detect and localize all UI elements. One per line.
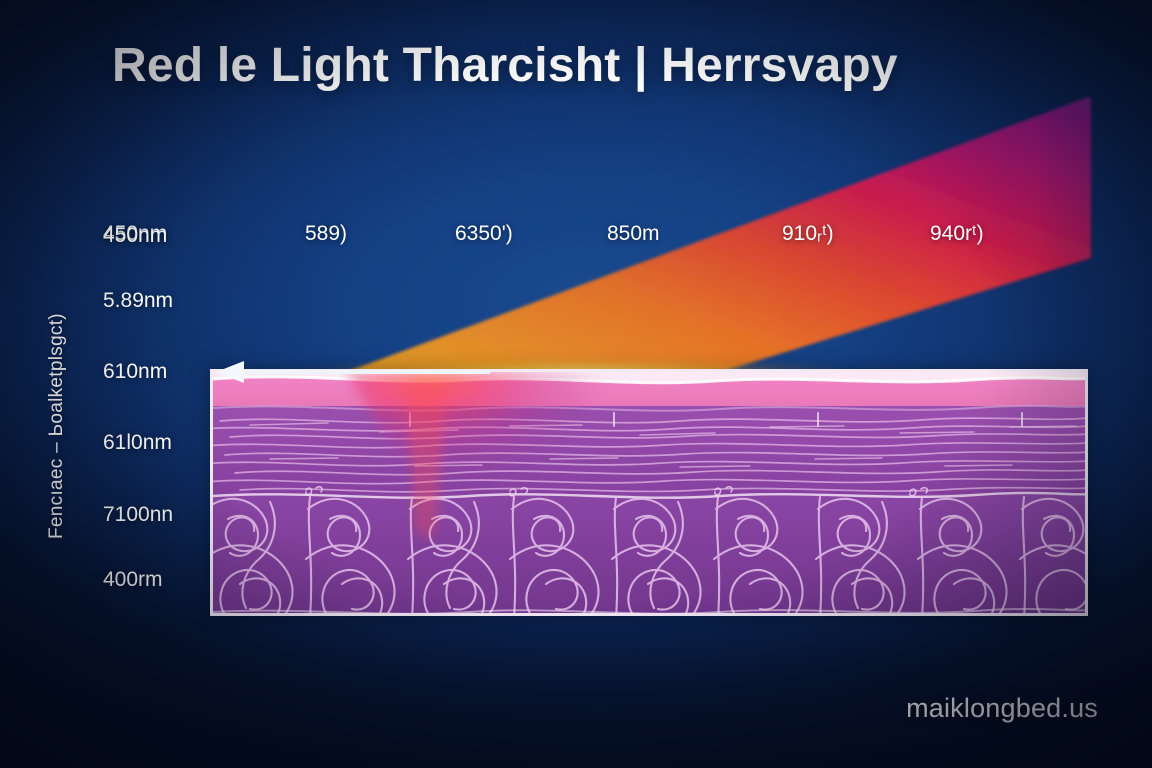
wavelength-label-4: 850m: [607, 222, 660, 246]
wavelength-label-6: 940rᵗ): [930, 222, 984, 246]
depth-label-4: 61l0nm: [103, 431, 172, 455]
left-arrow-icon: [212, 360, 492, 384]
watermark-url: maiklongbed.us: [906, 693, 1098, 724]
depth-label-6: 400rm: [103, 568, 163, 592]
depth-label-1: 450nm: [103, 224, 167, 248]
wavelength-label-2: 589): [305, 222, 347, 246]
depth-label-3: 610nm: [103, 360, 167, 384]
infographic-canvas: Red le Light Tharcisht | Herrsvapy 450nm…: [0, 0, 1152, 768]
y-axis-caption: Fencıaec – Ьoalketplsgct): [46, 276, 68, 576]
depth-label-5: 7100nn: [103, 503, 173, 527]
wavelength-label-3: 6350'): [455, 222, 513, 246]
skin-tissue-illustration: [210, 369, 1088, 616]
page-title: Red le Light Tharcisht | Herrsvapy: [112, 38, 898, 93]
skin-cross-section-diagram: [210, 369, 1088, 616]
depth-label-2: 5.89nm: [103, 289, 173, 313]
wavelength-label-5: 910ᵣᵗ): [782, 222, 834, 246]
